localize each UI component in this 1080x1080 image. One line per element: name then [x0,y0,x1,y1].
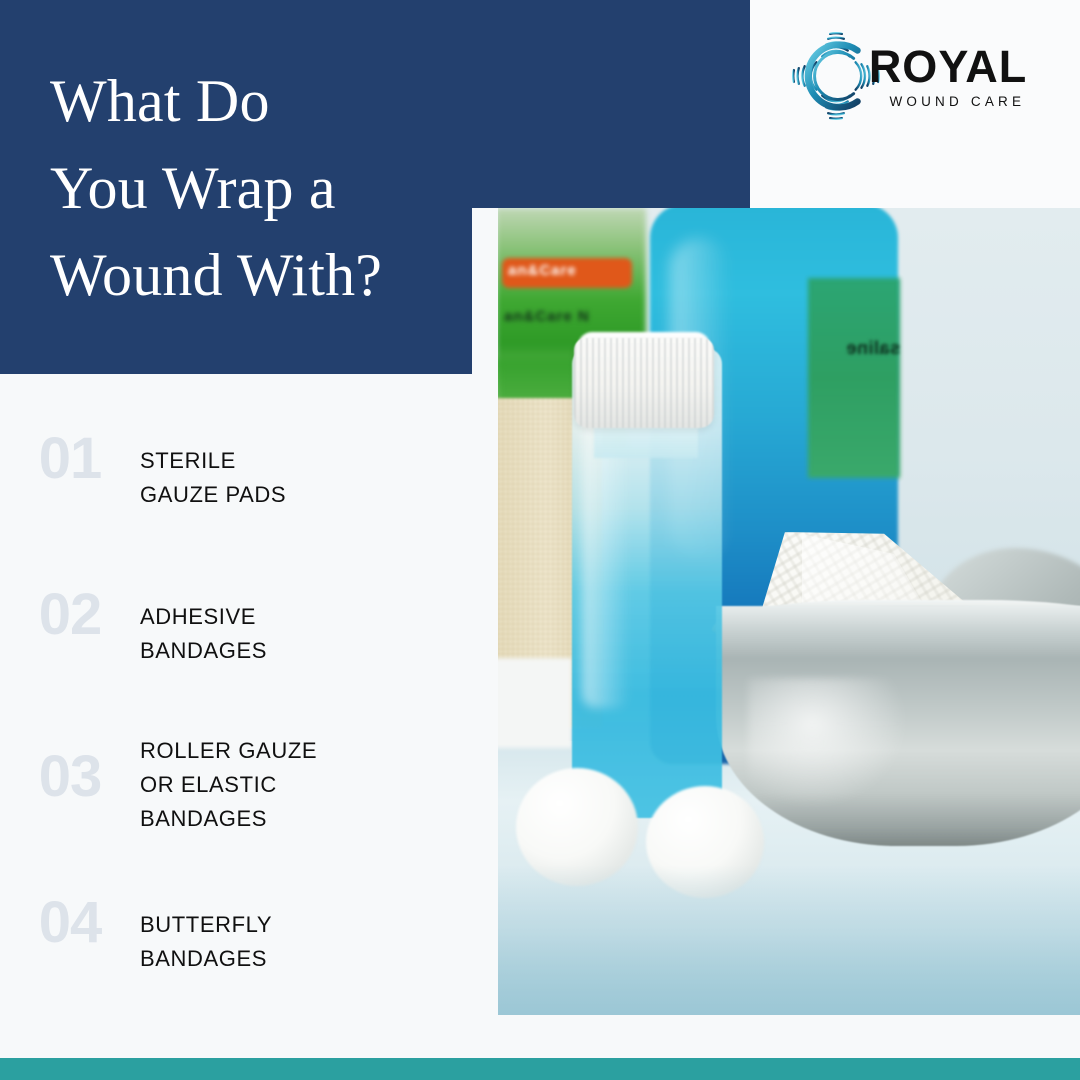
brand-logo[interactable]: ROYAL WOUND CARE [787,27,1027,125]
orange-label-text: an&Care [508,262,630,284]
list-item-label: BUTTERFLY BANDAGES [140,908,498,976]
logo-name: ROYAL [869,44,1027,89]
photo-bottom-reflection [498,865,1080,1015]
large-bottle-green-label [808,278,900,478]
list-item-number: 01 [0,430,140,488]
green-box-text: an&Care N [504,308,654,328]
poster-canvas: an&Care an&Care N saline [0,0,1080,1080]
list-item-number: 04 [0,894,140,952]
list-item-number: 02 [0,586,140,644]
photo-inner: an&Care an&Care N saline [498,208,1080,1015]
logo-tagline: WOUND CARE [889,95,1027,109]
list-item: 03 ROLLER GAUZE OR ELASTIC BANDAGES [0,704,498,836]
steel-bowl-highlight [748,678,908,808]
list-item-label: ADHESIVE BANDAGES [140,600,498,668]
logo-area[interactable]: ROYAL WOUND CARE [750,0,1080,208]
logo-wordmark: ROYAL WOUND CARE [869,44,1027,109]
list-item-label: ROLLER GAUZE OR ELASTIC BANDAGES [140,734,498,836]
list-item: 04 BUTTERFLY BANDAGES [0,860,498,988]
list-item-number: 03 [0,748,140,806]
large-bottle-label-text: saline [804,338,900,359]
list-item: 01 STERILE GAUZE PADS [0,400,498,528]
list-item-label: STERILE GAUZE PADS [140,444,498,512]
white-gauze-patch [498,658,572,748]
page-title: What Do You Wrap a Wound With? [50,58,480,319]
footer-accent-bar [0,1058,1080,1080]
list-item: 02 ADHESIVE BANDAGES [0,552,498,680]
wound-care-supplies-photo: an&Care an&Care N saline [498,208,1080,1015]
small-bottle-white-cap [574,338,714,428]
numbered-list: 01 STERILE GAUZE PADS 02 ADHESIVE BANDAG… [0,400,498,1012]
